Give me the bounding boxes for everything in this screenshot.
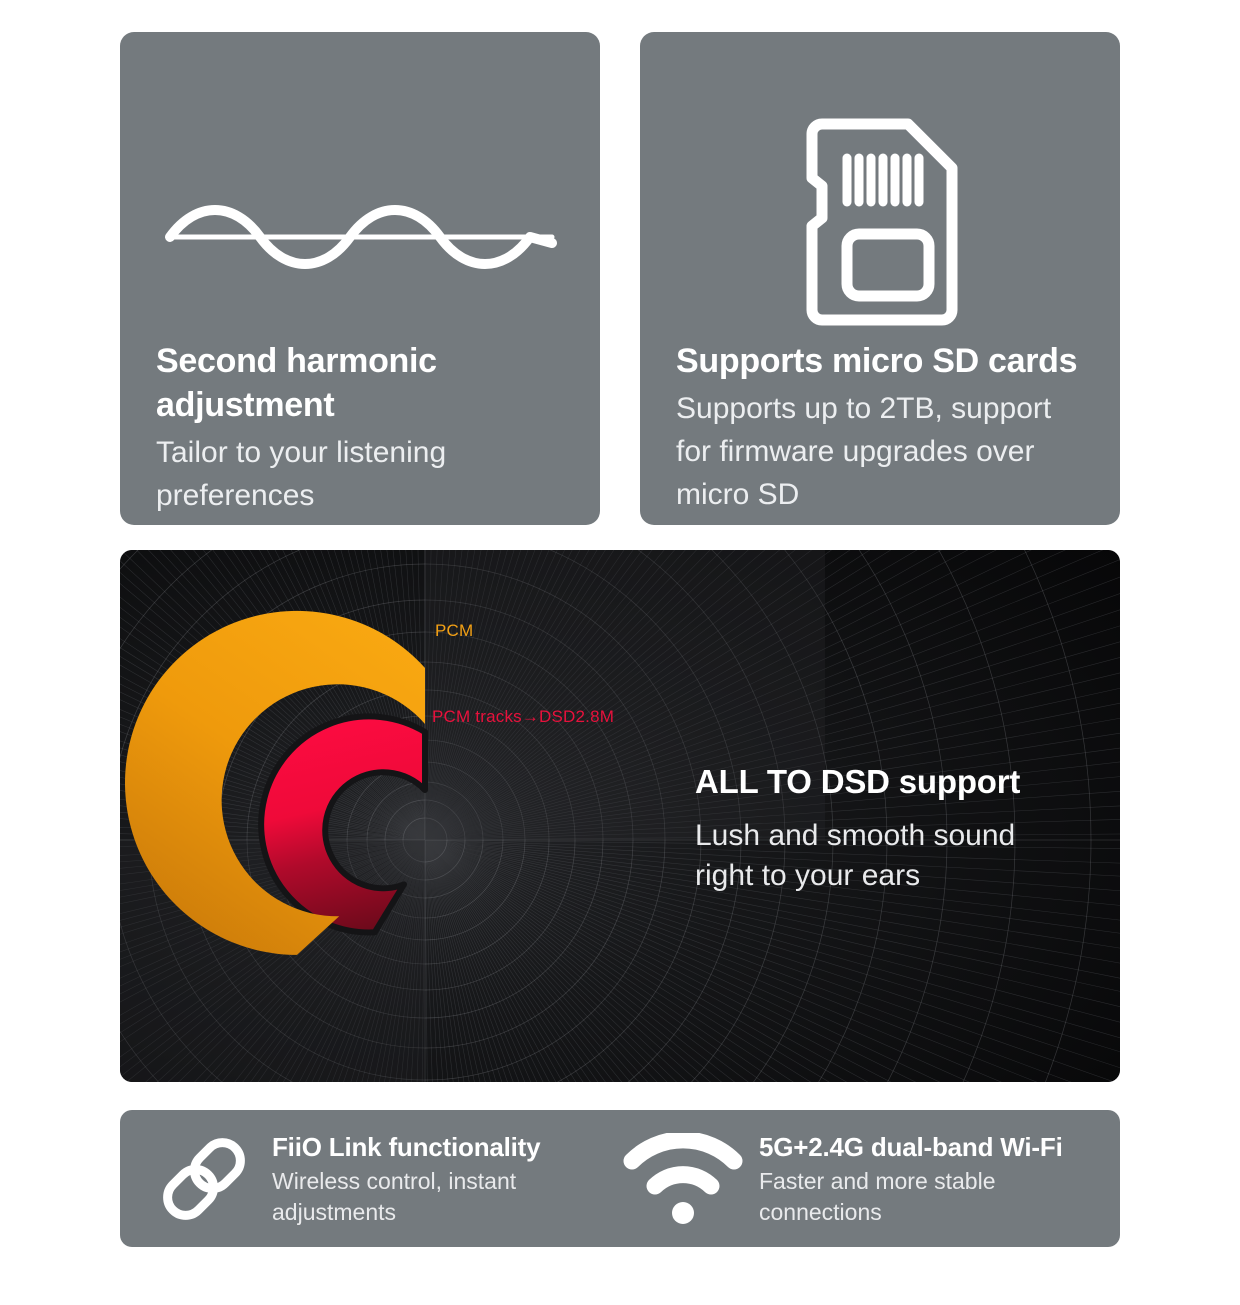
sd-card-icon bbox=[640, 110, 1120, 336]
wifi-icon bbox=[617, 1133, 749, 1225]
bottom-item-subtitle: Wireless control, instant adjustments bbox=[272, 1166, 540, 1228]
bottom-item-text-block: 5G+2.4G dual-band Wi-Fi Faster and more … bbox=[749, 1130, 1063, 1228]
bottom-feature-bar: FiiO Link functionality Wireless control… bbox=[120, 1110, 1120, 1247]
bottom-item-title: FiiO Link functionality bbox=[272, 1130, 540, 1164]
feature-card-micro-sd: Supports micro SD cards Supports up to 2… bbox=[640, 32, 1120, 525]
arc-label-dsd: PCM tracks→DSD2.8M bbox=[432, 707, 614, 727]
card-text-block: Supports micro SD cards Supports up to 2… bbox=[676, 339, 1120, 516]
card-title: Second harmonic adjustment bbox=[156, 339, 600, 427]
link-chain-icon bbox=[146, 1127, 262, 1231]
feature-card-second-harmonic: Second harmonic adjustment Tailor to you… bbox=[120, 32, 600, 525]
panel-subtitle: Lush and smooth sound right to your ears bbox=[695, 816, 1115, 896]
panel-title: ALL TO DSD support bbox=[695, 762, 1115, 802]
card-subtitle: Tailor to your listening preferences bbox=[156, 431, 600, 517]
sine-wave-icon bbox=[120, 182, 600, 292]
dsd-panel: PCM PCM tracks→DSD2.8M ALL TO DSD suppor… bbox=[120, 550, 1120, 1082]
bottom-item-text-block: FiiO Link functionality Wireless control… bbox=[262, 1130, 540, 1228]
bottom-item-title: 5G+2.4G dual-band Wi-Fi bbox=[759, 1130, 1063, 1164]
bottom-item-fiio-link: FiiO Link functionality Wireless control… bbox=[146, 1110, 540, 1247]
bottom-item-wifi: 5G+2.4G dual-band Wi-Fi Faster and more … bbox=[617, 1110, 1063, 1247]
panel-text-block: ALL TO DSD support Lush and smooth sound… bbox=[695, 762, 1115, 896]
arc-label-pcm: PCM bbox=[435, 621, 473, 641]
card-subtitle: Supports up to 2TB, support for firmware… bbox=[676, 387, 1120, 516]
card-text-block: Second harmonic adjustment Tailor to you… bbox=[156, 339, 600, 517]
bottom-item-subtitle: Faster and more stable connections bbox=[759, 1166, 1063, 1228]
card-title: Supports micro SD cards bbox=[676, 339, 1120, 383]
feature-sheet: Second harmonic adjustment Tailor to you… bbox=[0, 0, 1240, 1305]
